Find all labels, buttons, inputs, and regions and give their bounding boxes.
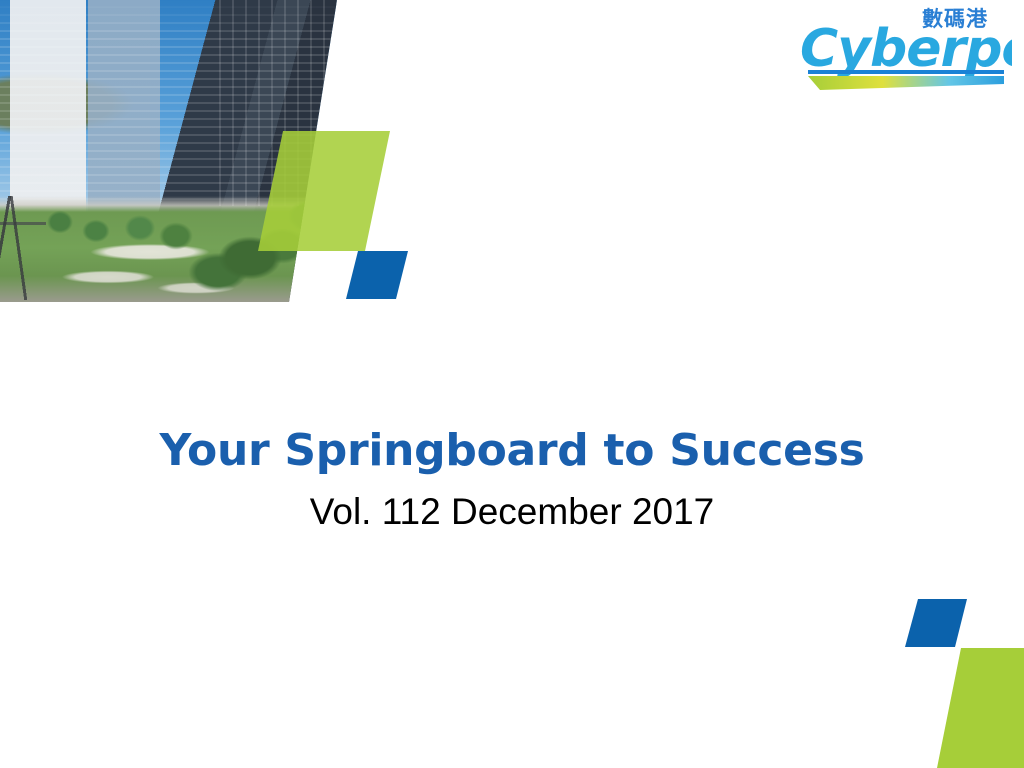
blue-parallelogram-top [346,251,410,299]
issue-subtitle: Vol. 112 December 2017 [0,490,1024,534]
slide-canvas: 數碼港 Cyberport Your Springboard to Succes… [0,0,1024,768]
logo-blue-bar [808,70,1004,74]
foreground-railing [0,196,46,300]
page-title: Your Springboard to Success [0,424,1024,478]
green-parallelogram-bottom [930,648,1024,768]
blue-parallelogram-bottom [905,599,971,647]
cyberport-logo: 數碼港 Cyberport [800,4,1012,100]
title-block: Your Springboard to Success Vol. 112 Dec… [0,424,1024,534]
logo-gradient-wedge [808,76,1004,90]
